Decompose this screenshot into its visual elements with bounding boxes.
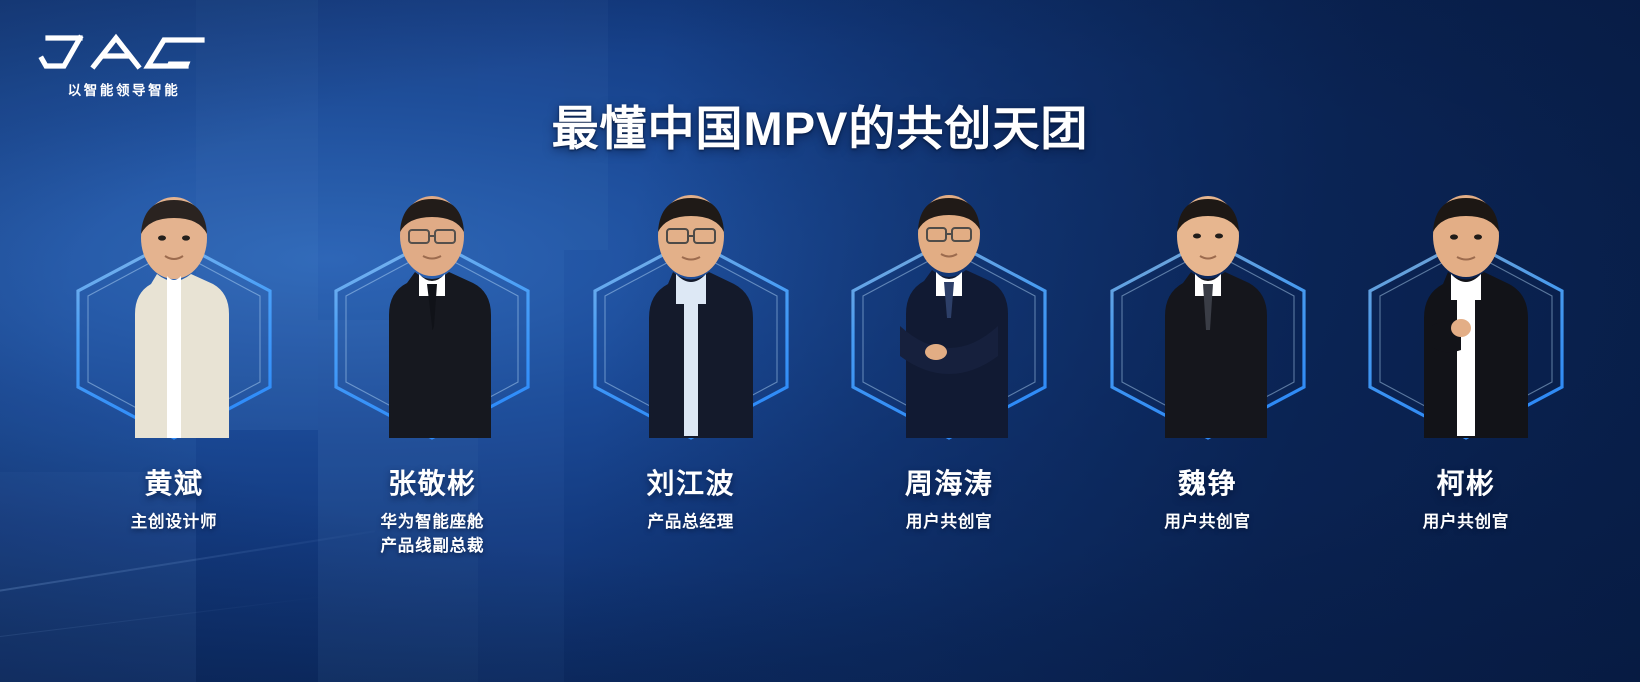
team-member-list: 黄斌 主创设计师: [56, 176, 1584, 559]
member-role: 华为智能座舱 产品线副总裁: [380, 511, 484, 559]
portrait-photo: [99, 176, 249, 438]
member-name: 张敬彬: [388, 462, 477, 502]
member-name: 魏铮: [1178, 462, 1237, 502]
member-role: 主创设计师: [131, 511, 218, 535]
member-role: 用户共创官: [906, 511, 993, 535]
member-portrait-frame: [845, 176, 1053, 442]
member-name: 柯彬: [1436, 462, 1495, 502]
member-portrait-frame: [587, 176, 795, 442]
portrait-photo: [357, 176, 507, 438]
portrait-photo: [1391, 176, 1541, 438]
member-role: 产品总经理: [648, 511, 735, 535]
member-role: 用户共创官: [1423, 511, 1510, 535]
team-member-card[interactable]: 柯彬 用户共创官: [1348, 176, 1584, 559]
team-member-card[interactable]: 魏铮 用户共创官: [1090, 176, 1326, 559]
member-name: 周海涛: [905, 462, 994, 502]
portrait-photo: [616, 176, 766, 438]
jac-logo-icon: [36, 28, 212, 76]
member-name: 黄斌: [144, 462, 203, 502]
team-member-card[interactable]: 黄斌 主创设计师: [56, 176, 292, 559]
member-portrait-frame: [1104, 176, 1312, 442]
member-role: 用户共创官: [1164, 511, 1251, 535]
member-portrait-frame: [70, 176, 278, 442]
member-name: 刘江波: [647, 462, 736, 502]
slide-canvas: 以智能领导智能 最懂中国MPV的共创天团: [0, 0, 1640, 682]
member-portrait-frame: [1362, 176, 1570, 442]
team-member-card[interactable]: 刘江波 产品总经理: [573, 176, 809, 559]
team-member-card[interactable]: 张敬彬 华为智能座舱 产品线副总裁: [314, 176, 550, 559]
portrait-photo: [1133, 176, 1283, 438]
page-title: 最懂中国MPV的共创天团: [0, 90, 1640, 159]
member-portrait-frame: [328, 176, 536, 442]
team-member-card[interactable]: 周海涛 用户共创官: [831, 176, 1067, 559]
portrait-photo: [874, 176, 1024, 438]
